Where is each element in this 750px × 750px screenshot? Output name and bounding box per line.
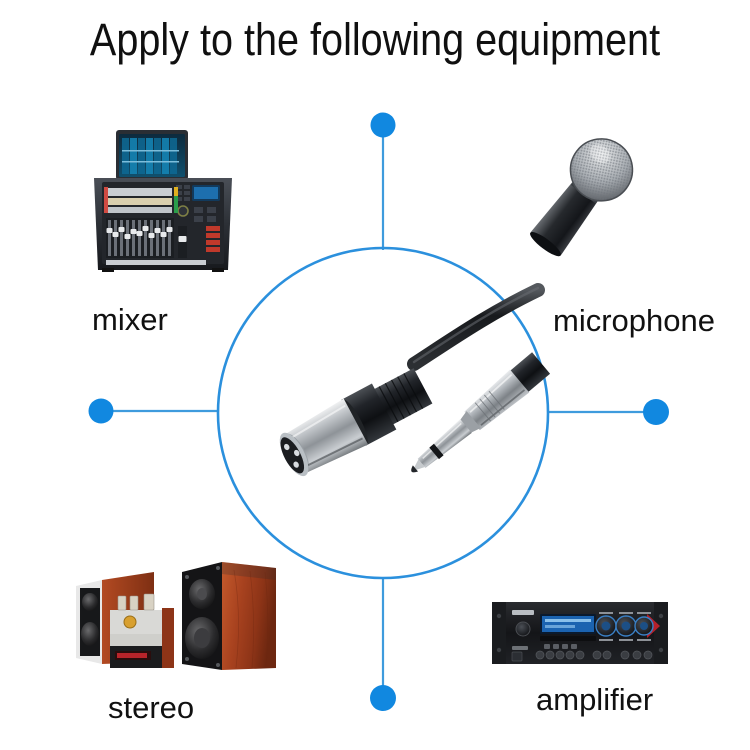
node-dot-microphone [643, 399, 669, 425]
stereo-image [62, 546, 287, 676]
node-dot-amplifier [370, 685, 396, 711]
mixer-image [88, 128, 238, 276]
node-label-stereo: stereo [108, 690, 194, 726]
infographic-canvas: Apply to the following equipment mixer m… [0, 0, 750, 750]
microphone-image [505, 128, 651, 274]
cable-product-image [238, 278, 564, 514]
node-label-microphone: microphone [553, 303, 715, 339]
amplifier-image [492, 598, 668, 670]
node-label-amplifier: amplifier [536, 682, 653, 718]
node-dot-stereo [89, 399, 114, 424]
node-dot-mixer [371, 113, 396, 138]
node-label-mixer: mixer [92, 302, 168, 338]
